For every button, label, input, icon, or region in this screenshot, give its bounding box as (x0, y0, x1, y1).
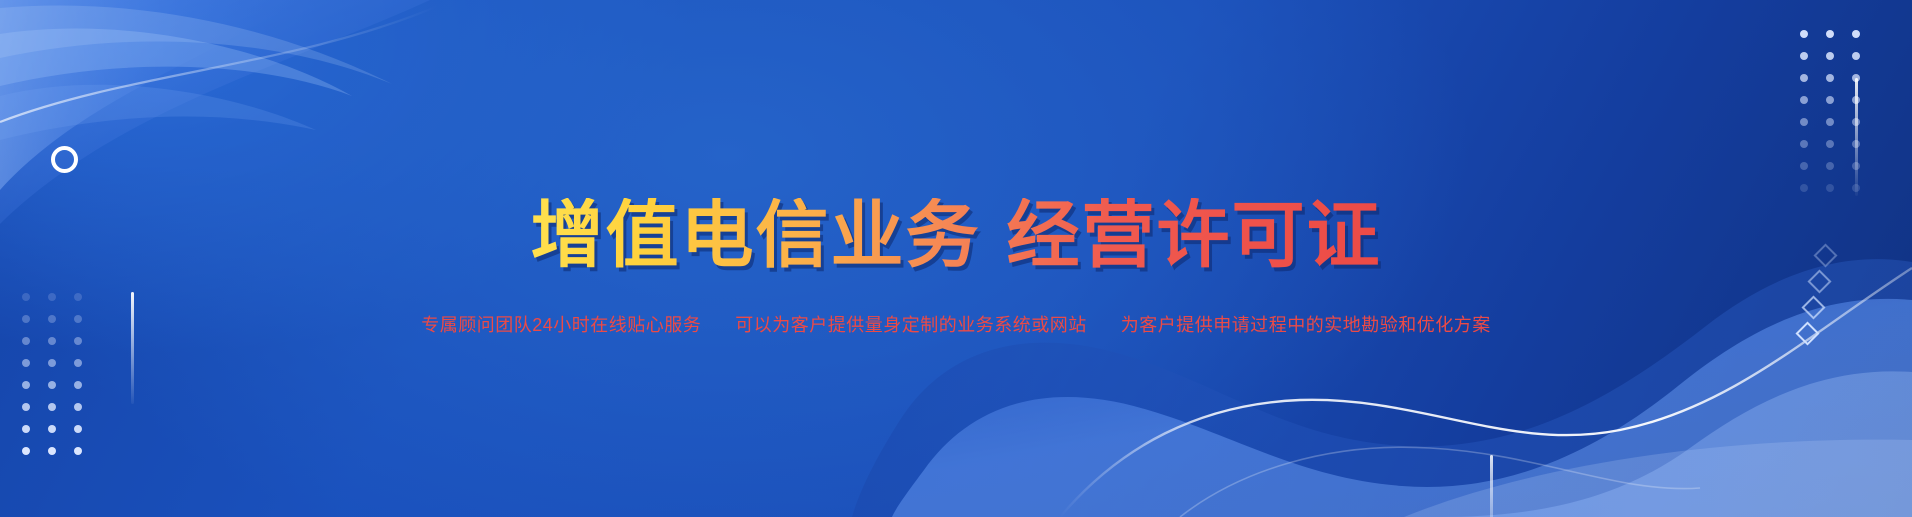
promo-banner: 增值电信业务经营许可证 专属顾问团队24小时在线贴心服务可以为客户提供量身定制的… (0, 0, 1912, 517)
banner-headline: 增值电信业务经营许可证 (531, 198, 1382, 275)
headline-part-2: 经营许可证 (1007, 195, 1382, 276)
headline-part-1: 增值电信业务 (531, 195, 981, 276)
subtitle-item-3: 为客户提供申请过程中的实地勘验和优化方案 (1121, 315, 1491, 335)
subtitle-item-1: 专属顾问团队24小时在线贴心服务 (421, 315, 701, 335)
banner-content: 增值电信业务经营许可证 专属顾问团队24小时在线贴心服务可以为客户提供量身定制的… (0, 0, 1912, 517)
banner-subtitle: 专属顾问团队24小时在线贴心服务可以为客户提供量身定制的业务系统或网站为客户提供… (421, 311, 1491, 337)
subtitle-item-2: 可以为客户提供量身定制的业务系统或网站 (735, 315, 1087, 335)
